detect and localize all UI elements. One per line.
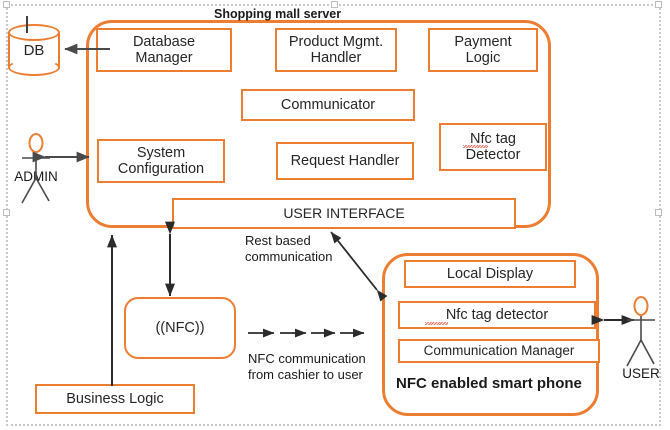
actor-admin[interactable]: ADMIN: [18, 133, 54, 195]
connector-rest-based-communication: [331, 232, 377, 290]
user-head-icon: [634, 296, 649, 316]
component-user-interface[interactable]: USER INTERFACE: [172, 198, 516, 229]
frame-handle-top-right[interactable]: [655, 1, 662, 8]
component-product-mgmt-handler[interactable]: Product Mgmt. Handler: [275, 28, 397, 72]
component-request-handler[interactable]: Request Handler: [276, 142, 414, 180]
component-nfc-tag-detector[interactable]: Nfc tag Detector: [439, 123, 547, 171]
diagram-canvas: Shopping mall server DB Database Manager…: [0, 0, 670, 430]
component-local-display[interactable]: Local Display: [404, 260, 576, 288]
component-communicator[interactable]: Communicator: [241, 89, 415, 121]
phone-title: NFC enabled smart phone: [396, 375, 582, 394]
actor-user-label: USER: [622, 366, 660, 381]
annotation-nfc-communication: NFC communication from cashier to user: [248, 351, 366, 384]
actor-admin-label: ADMIN: [14, 169, 58, 184]
component-system-configuration[interactable]: System Configuration: [97, 139, 225, 183]
actor-user[interactable]: USER: [623, 296, 659, 358]
frame-handle-mid-right[interactable]: [655, 209, 662, 216]
component-communication-manager[interactable]: Communication Manager: [398, 339, 600, 363]
text-caret: [26, 16, 28, 33]
page-title: Shopping mall server: [214, 7, 341, 23]
component-payment-logic[interactable]: Payment Logic: [428, 28, 538, 72]
node-nfc[interactable]: ((NFC)): [124, 297, 236, 359]
db-label: DB: [8, 24, 60, 76]
spellcheck-underline-nfc-phone: [425, 322, 448, 325]
database-cylinder[interactable]: DB: [8, 24, 60, 76]
component-business-logic[interactable]: Business Logic: [35, 384, 195, 414]
spellcheck-underline-nfc-server: [463, 145, 488, 148]
frame-handle-top-left[interactable]: [3, 1, 10, 8]
annotation-rest-based-communication: Rest based communication: [245, 233, 332, 266]
admin-head-icon: [29, 133, 44, 153]
frame-handle-mid-left[interactable]: [3, 209, 10, 216]
component-database-manager[interactable]: Database Manager: [96, 28, 232, 72]
